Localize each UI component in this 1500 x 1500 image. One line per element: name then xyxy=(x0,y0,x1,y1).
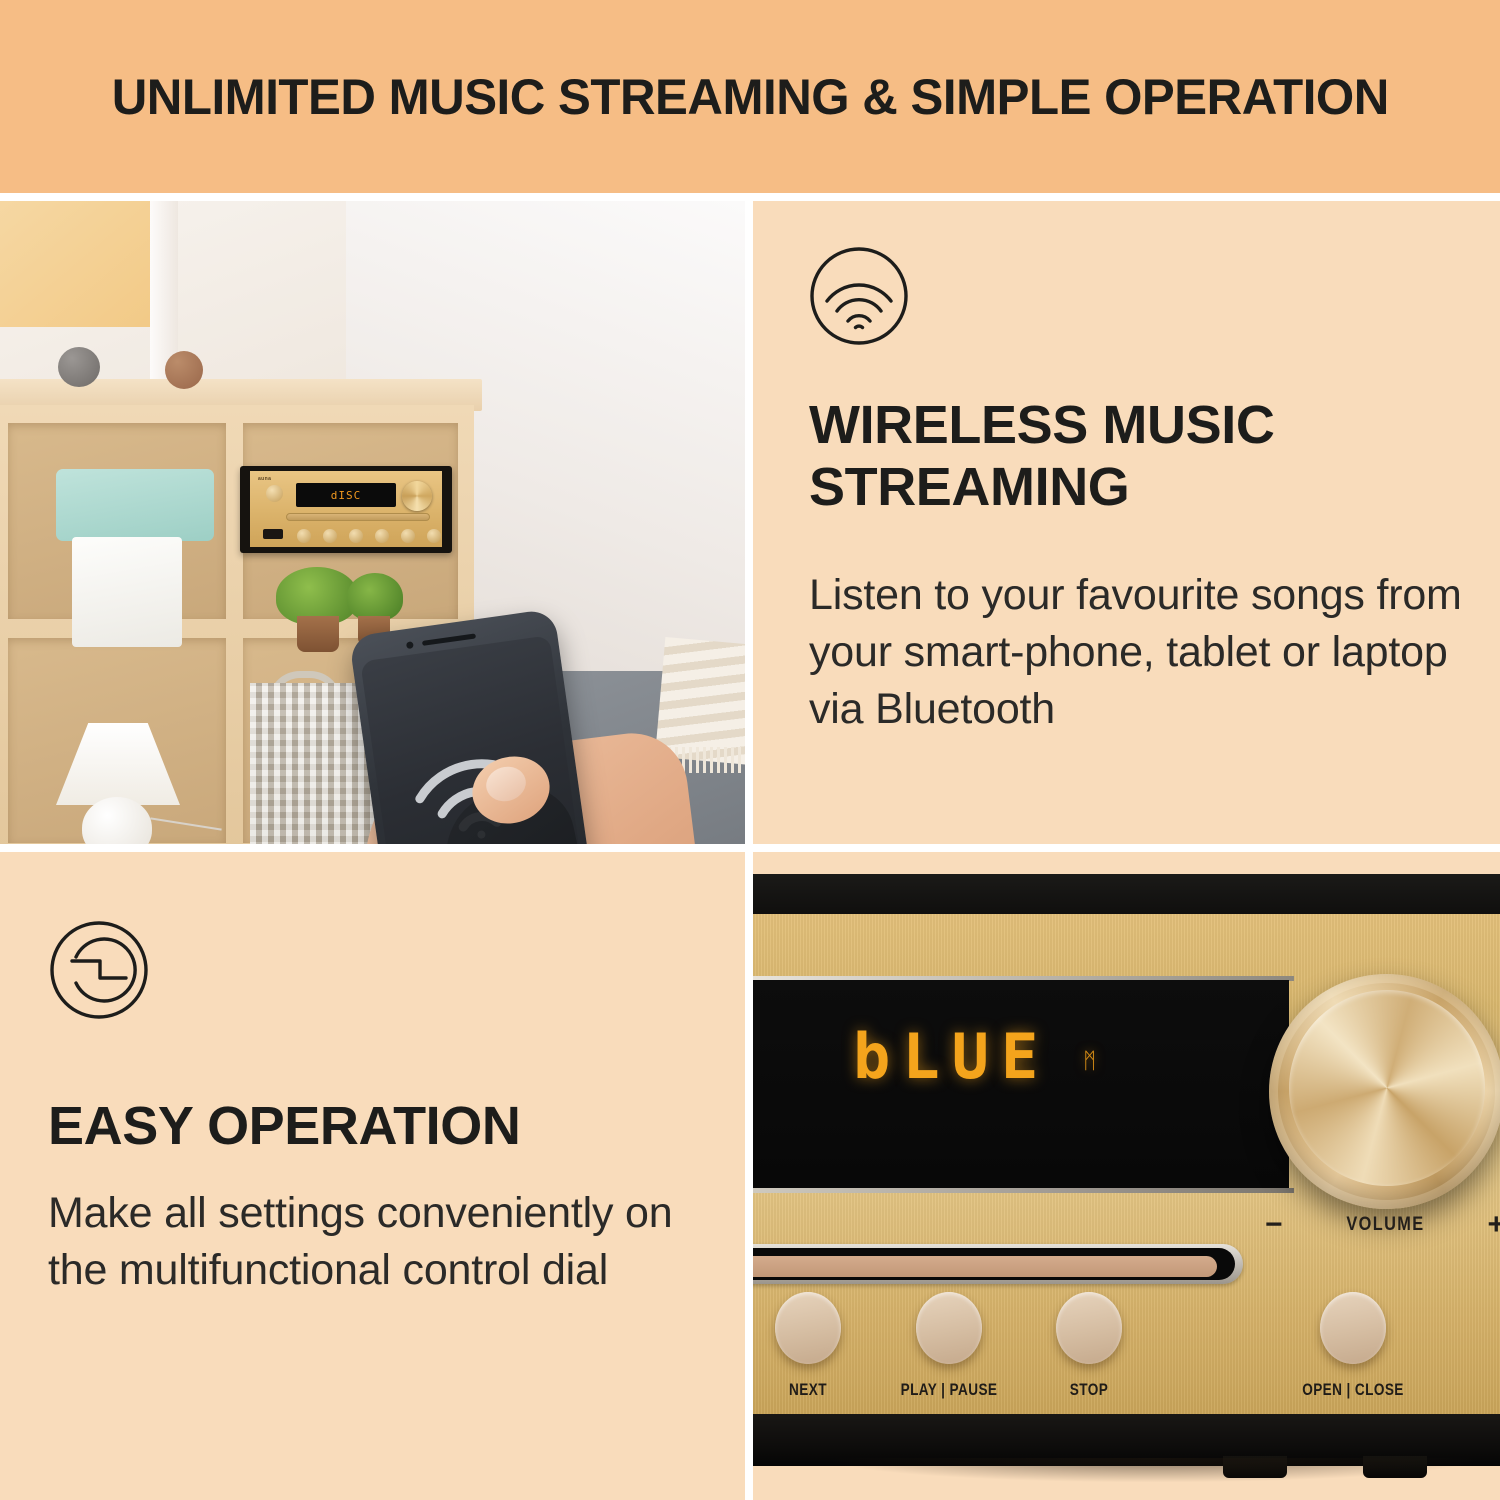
stop-button[interactable] xyxy=(1056,1292,1122,1364)
earpiece-speaker xyxy=(422,633,476,645)
header-banner: UNLIMITED MUSIC STREAMING & SIMPLE OPERA… xyxy=(0,0,1500,193)
bluetooth-indicator-icon: ᛗ xyxy=(1083,1048,1096,1074)
play-pause-button-label: PLAY | PAUSE xyxy=(875,1380,1024,1400)
display-chrome-trim xyxy=(753,1188,1294,1193)
control-dial-step-wave-icon xyxy=(48,919,150,1021)
mint-storage-box xyxy=(56,469,214,541)
wireless-body: Listen to your favourite songs from your… xyxy=(809,567,1469,739)
potted-plant-pot xyxy=(297,616,339,652)
cd-loading-slot[interactable] xyxy=(753,1244,1243,1284)
shelf-stereo-button xyxy=(323,529,337,543)
operation-heading: EASY OPERATION xyxy=(48,1096,688,1158)
shelf-stereo-button xyxy=(297,529,311,543)
stop-button-label: STOP xyxy=(1015,1380,1164,1400)
lifestyle-photo-panel: auna dISC xyxy=(0,201,745,844)
white-storage-box xyxy=(72,537,182,647)
shelf-stereo-display-text: dISC xyxy=(331,489,362,502)
shelf-stereo-knob xyxy=(402,481,432,511)
usb-port xyxy=(263,529,283,539)
product-closeup-panel: bLUE ᛗ − VOLUME + NEXT PLAY | PAUSE STO xyxy=(753,852,1500,1500)
cd-slot-opening xyxy=(753,1248,1235,1280)
shelf-stereo-unit: auna dISC xyxy=(240,466,452,553)
dial-face xyxy=(1289,990,1485,1186)
volume-label: VOLUME xyxy=(1346,1214,1424,1236)
wifi-circle-icon xyxy=(808,245,910,347)
volume-control-dial[interactable] xyxy=(1269,974,1500,1209)
volume-plus-icon: + xyxy=(1487,1210,1500,1240)
hifi-drop-shadow xyxy=(833,1458,1473,1482)
shelf-stereo-button xyxy=(401,529,415,543)
next-button[interactable] xyxy=(775,1292,841,1364)
shelf-stereo-button xyxy=(375,529,389,543)
display-text: bLUE xyxy=(853,1020,1050,1093)
infographic-page: UNLIMITED MUSIC STREAMING & SIMPLE OPERA… xyxy=(0,0,1500,1500)
brand-logo: auna xyxy=(258,476,271,482)
hifi-front-panel: bLUE ᛗ − VOLUME + NEXT PLAY | PAUSE STO xyxy=(753,852,1500,1500)
background-lamp-shade xyxy=(0,201,170,327)
cd-slot-flap xyxy=(753,1256,1217,1277)
page-title: UNLIMITED MUSIC STREAMING & SIMPLE OPERA… xyxy=(111,68,1388,126)
power-button xyxy=(266,485,283,502)
wireless-streaming-panel: WIRELESS MUSIC STREAMING Listen to your … xyxy=(753,201,1500,844)
shelf-stereo-button xyxy=(349,529,363,543)
potted-plant-leaves xyxy=(347,573,403,621)
shelf-stereo-faceplate: auna dISC xyxy=(250,471,442,547)
decorative-ball xyxy=(165,351,203,389)
wireless-heading: WIRELESS MUSIC STREAMING xyxy=(809,395,1449,518)
shelf-stereo-button xyxy=(427,529,441,543)
shelf-stereo-cd-slot xyxy=(286,513,430,521)
next-button-label: NEXT xyxy=(753,1380,882,1400)
operation-body: Make all settings conveniently on the mu… xyxy=(48,1185,738,1299)
volume-markings: − VOLUME + xyxy=(1265,1208,1500,1242)
volume-minus-icon: − xyxy=(1265,1210,1283,1240)
decorative-ball xyxy=(58,347,100,387)
living-room-scene: auna dISC xyxy=(0,201,745,844)
play-pause-button[interactable] xyxy=(916,1292,982,1364)
shelf-stereo-display: dISC xyxy=(296,483,396,507)
open-close-button-label: OPEN | CLOSE xyxy=(1279,1380,1428,1400)
throw-blanket xyxy=(655,637,745,765)
open-close-button[interactable] xyxy=(1320,1292,1386,1364)
front-camera-icon xyxy=(406,641,414,649)
easy-operation-panel: EASY OPERATION Make all settings conveni… xyxy=(0,852,745,1500)
